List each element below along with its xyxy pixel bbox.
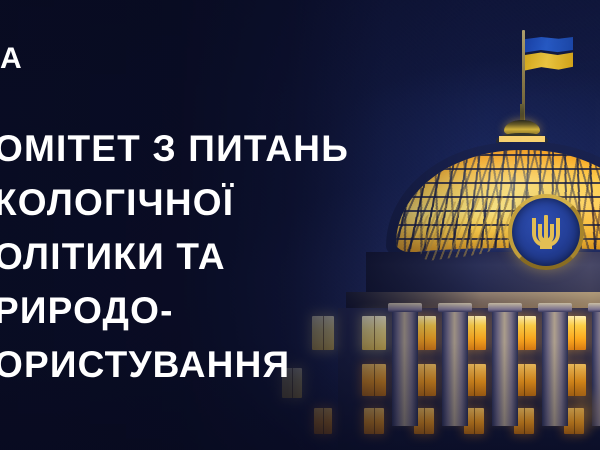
logo-wordmark: А [0,44,22,74]
headline-line-3: ОЛІТИКИ ТА [0,230,464,284]
page-title: ОМІТЕТ З ПИТАНЬ КОЛОГІЧНОЇ ОЛІТИКИ ТА РИ… [0,122,464,392]
headline-line-4: РИРОДО- [0,284,464,338]
headline-line-2: КОЛОГІЧНОЇ [0,176,464,230]
hero-banner: А ОМІТЕТ З ПИТАНЬ КОЛОГІЧНОЇ ОЛІТИКИ ТА … [0,0,600,450]
headline-line-1: ОМІТЕТ З ПИТАНЬ [0,122,464,176]
headline-line-5: ОРИСТУВАННЯ [0,338,464,392]
